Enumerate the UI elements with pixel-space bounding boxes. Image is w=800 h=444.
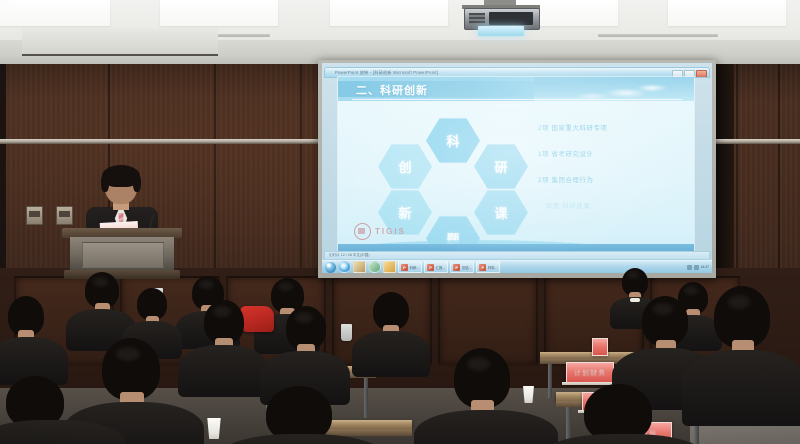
taskbar-item-powerpoint[interactable]: P 科研...: [398, 261, 422, 273]
taskbar-clock[interactable]: 14:37: [701, 265, 710, 269]
namecard: 计划财务: [566, 362, 614, 384]
start-orb-icon[interactable]: [325, 262, 336, 273]
audience-member: [0, 296, 62, 376]
projector-vent: [469, 13, 485, 25]
hair-highlight: [199, 280, 214, 289]
ceiling-light-panel: [668, 0, 786, 26]
hair-highlight: [728, 295, 750, 309]
logo-text: TIGIS: [375, 227, 406, 236]
audience-member: [186, 300, 260, 392]
ceiling-projector: [458, 0, 544, 34]
person-shoulders: [0, 420, 126, 444]
conference-room-scene: PowerPoint 放映 - [科研创新 Microsoft PowerPoi…: [0, 0, 800, 444]
hair-highlight: [93, 277, 108, 287]
slide-logo: TIGIS: [354, 223, 406, 240]
slide-title-underline: [352, 99, 682, 100]
audience-member-foreground: [0, 376, 110, 444]
hair-highlight: [653, 303, 673, 315]
person-shoulders: [352, 331, 430, 377]
hair-highlight: [116, 347, 140, 361]
hair-highlight: [467, 357, 490, 371]
audience-member-foreground: [236, 386, 366, 444]
powerpoint-icon: P: [453, 264, 460, 271]
tray-volume-icon[interactable]: [694, 265, 699, 270]
audience-member-foreground: [430, 348, 540, 444]
lectern-inset-panel: [82, 242, 164, 268]
taskbar-item-label: 总结...: [462, 265, 472, 270]
ceiling-light-panel: [330, 0, 448, 26]
powerpoint-window-title: PowerPoint 放映 - [科研创新 Microsoft PowerPoi…: [335, 70, 438, 76]
system-tray[interactable]: 14:37: [687, 265, 713, 270]
projection-screen: PowerPoint 放映 - [科研创新 Microsoft PowerPoi…: [318, 60, 716, 278]
lectern-front-panel: [70, 237, 174, 271]
ceiling-bulkhead-left: [22, 28, 218, 56]
folder-icon[interactable]: [383, 261, 396, 273]
taskbar-item-powerpoint[interactable]: P 汇报...: [424, 261, 448, 273]
person-shoulders: [538, 434, 708, 444]
water-glass: [341, 324, 352, 341]
namecard-small: [592, 338, 608, 356]
projector-lens-glow: [478, 26, 524, 36]
presenter-hair-side: [133, 174, 141, 192]
audience-member-foreground: [556, 384, 686, 444]
slide-bullet: 1项 省考研究设计: [538, 149, 680, 158]
taskbar-item-powerpoint[interactable]: P 材料...: [476, 261, 500, 273]
taskbar-item-label: 材料...: [488, 265, 498, 270]
media-icon[interactable]: [368, 261, 381, 273]
taskbar-item-powerpoint[interactable]: P 总结...: [450, 261, 474, 273]
powerpoint-icon: P: [479, 264, 486, 271]
slide-status-text: 幻灯片 12 / 28 中文(中国): [329, 253, 370, 258]
hexagon-ke: 科: [426, 117, 480, 164]
ceiling-light-panel: [0, 0, 110, 26]
slide-bullet: 2项 国家重大科研专项: [538, 123, 680, 132]
ie-icon[interactable]: [338, 261, 351, 273]
taskbar-item-label: 汇报...: [436, 265, 446, 270]
tray-network-icon[interactable]: [687, 265, 692, 270]
hair-highlight: [278, 282, 293, 291]
presenter-hair-side: [101, 174, 109, 192]
projector-panel: [489, 12, 533, 25]
taskbar-item-label: 科研...: [410, 265, 420, 270]
audience-member: [358, 292, 422, 372]
ceiling-light-panel: [160, 0, 278, 26]
slide-bullet: 2项 集团合理行为: [538, 175, 680, 184]
desk-leg: [548, 364, 552, 398]
person-shoulders: [216, 434, 388, 444]
hair-highlight: [627, 271, 639, 279]
ceiling-vent-slot: [598, 34, 718, 37]
logo-mark-icon: [354, 223, 371, 240]
close-button[interactable]: [696, 70, 707, 78]
slide-title: 二、科研创新: [356, 82, 428, 98]
audience-member: [692, 286, 792, 416]
wall-outlet: [26, 206, 43, 225]
powerpoint-statusbar: 幻灯片 12 / 28 中文(中国): [324, 251, 710, 260]
powerpoint-icon: P: [401, 264, 408, 271]
person-shoulders: [414, 410, 558, 444]
namecard-label: 计划财务: [574, 368, 606, 378]
person-shoulders: [682, 350, 800, 426]
hair-highlight: [295, 312, 313, 323]
screen-surface: PowerPoint 放映 - [科研创新 Microsoft PowerPoi…: [322, 63, 712, 273]
hexagon-chuang: 创: [378, 143, 432, 190]
wall-outlet: [56, 206, 73, 225]
picture-icon[interactable]: [353, 261, 366, 273]
presentation-slide: 二、科研创新 科 研 课 题 新 创 2项 国家重大科研专项 1项 省考研究设计…: [338, 77, 694, 253]
powerpoint-icon: P: [427, 264, 434, 271]
hexagon-yan: 研: [474, 143, 528, 190]
hair-highlight: [213, 306, 231, 317]
